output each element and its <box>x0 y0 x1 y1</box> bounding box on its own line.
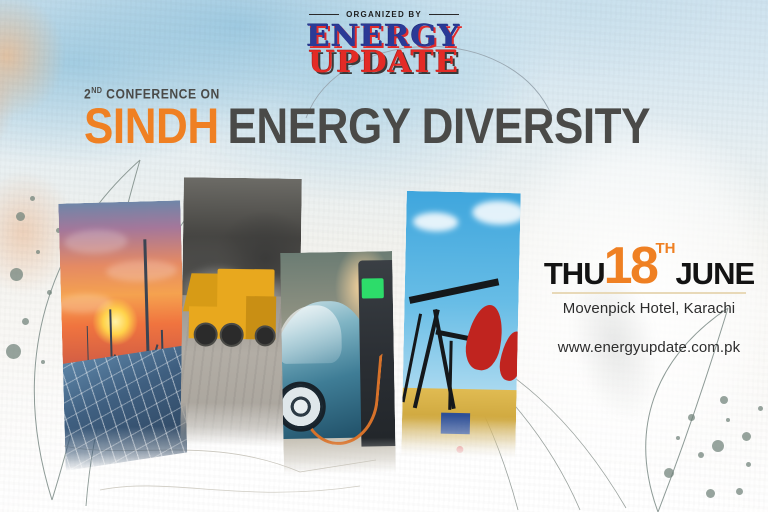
charging-station-display <box>361 278 384 298</box>
event-date-ordinal: TH <box>655 241 675 256</box>
organized-by-row: ORGANIZED BY <box>309 10 459 19</box>
event-venue: Movenpick Hotel, Karachi <box>546 300 752 317</box>
conference-poster: ORGANIZED BY ENERGY UPDATE 2ND CONFERENC… <box>0 0 768 512</box>
organizer-logo: ORGANIZED BY ENERGY UPDATE <box>0 10 768 76</box>
solar-panel-array <box>58 344 187 472</box>
pumpjack-base-box <box>440 412 470 434</box>
haul-truck-wheel <box>219 322 243 346</box>
event-date-number: 18 <box>604 244 657 289</box>
event-date-line: THU 18 TH JUNE <box>546 244 752 289</box>
page-title: SINDH ENERGY DIVERSITY <box>84 101 650 151</box>
red-marker-dot <box>456 446 463 453</box>
event-details-block: THU 18 TH JUNE Movenpick Hotel, Karachi … <box>546 244 752 356</box>
rule-left <box>309 14 339 16</box>
rule-right <box>429 14 459 16</box>
brand-name-update: UPDATE <box>309 49 460 77</box>
haul-truck-wheel <box>193 322 217 346</box>
kicker-ordinal: ND <box>91 86 102 95</box>
headline-block: 2ND CONFERENCE ON SINDH ENERGY DIVERSITY <box>84 86 727 151</box>
title-energy-diversity: ENERGY DIVERSITY <box>228 101 650 151</box>
cloud <box>413 212 459 232</box>
oil-pumpjack-photo <box>401 191 521 459</box>
wind-turbines-solar-panels-photo <box>58 200 187 471</box>
organized-by-label: ORGANIZED BY <box>346 10 422 19</box>
event-weekday: THU <box>544 258 605 289</box>
title-highlight-sindh: SINDH <box>84 101 219 151</box>
electric-vehicle-charging-photo <box>280 251 396 475</box>
event-month: JUNE <box>675 258 754 289</box>
event-website[interactable]: www.energyupdate.com.pk <box>546 339 752 356</box>
